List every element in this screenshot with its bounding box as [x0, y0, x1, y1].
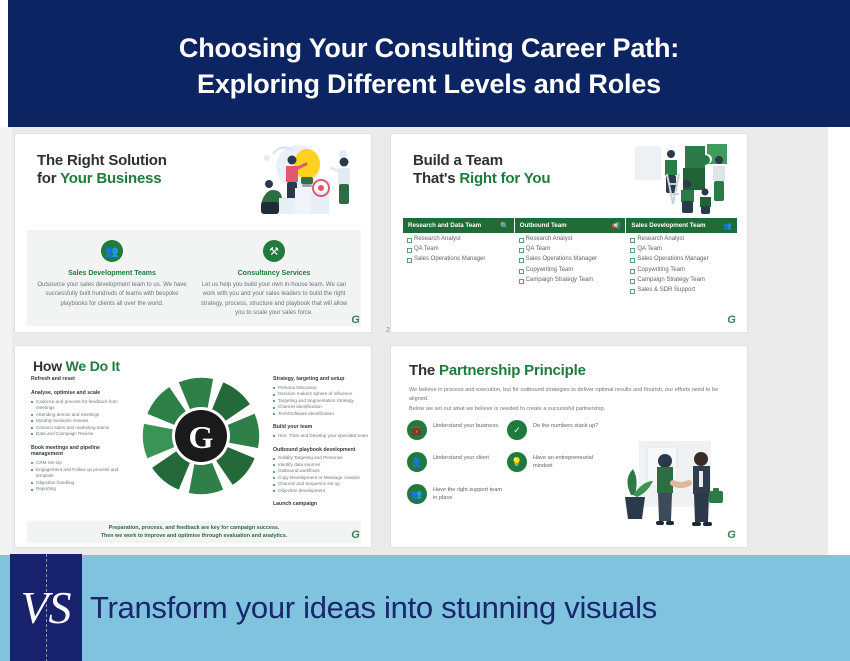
brand-logo-icon: G	[724, 314, 739, 327]
slide-4-heading-prefix: The	[409, 362, 439, 379]
team-role-item: Copywriting Team	[626, 264, 737, 274]
team-role-item: Sales Operations Manager	[626, 253, 737, 263]
slide-3-heading-accent: We Do It	[66, 358, 120, 374]
slide-1-heading-accent: Your Business	[60, 170, 161, 187]
team-role-item: Research Analyst	[403, 233, 514, 243]
team-role-item: QA Team	[403, 243, 514, 253]
slide-deck: 2 The Right Solution for Your Business	[0, 127, 850, 555]
process-item: Engagement and Follow up process and tem…	[31, 467, 127, 480]
slide-3-caption-line-2: Then we work to improve and optimise thr…	[101, 532, 288, 540]
team-column-sales-development: Sales Development Team 👥 Research Analys…	[626, 218, 737, 326]
team-column-outbound: Outbound Team 📢 Research Analyst QA Team…	[515, 218, 627, 326]
team-role-item: QA Team	[626, 243, 737, 253]
team-role-item: Campaign Strategy Team	[515, 274, 626, 284]
slide-1-heading-line-1: The Right Solution	[37, 152, 167, 170]
slide-2-heading: Build a Team That's Right for You	[413, 152, 550, 189]
vs-logo: VS	[10, 554, 82, 661]
footer-bar: VS Transform your ideas into stunning vi…	[0, 555, 850, 661]
process-group-title: Outbound playbook development	[273, 447, 369, 454]
process-item: Hire, Train and Develop your specialist …	[273, 433, 369, 440]
slide-1-col-1-body: Outsource your sales development team to…	[37, 281, 187, 309]
screenshot-root: Choosing Your Consulting Career Path: Ex…	[0, 0, 850, 661]
process-group: Analyse, optimise and scale Cadence and …	[31, 390, 127, 438]
principle-row: 👥 Have the right support team in place	[407, 484, 607, 504]
slide-4-paragraph-2: Below we set out what we believe is need…	[409, 405, 731, 414]
process-item: Reporting	[31, 486, 127, 493]
principle-item: ✓ Do the numbers stack up?	[507, 420, 607, 440]
team-role-item: Sales Operations Manager	[515, 253, 626, 263]
team-column-header-label: Sales Development Team	[631, 222, 705, 229]
slide-3-left-column: Refresh and reset Analyse, optimise and …	[31, 376, 127, 500]
team-puzzle-illustration	[627, 140, 739, 218]
brand-logo-icon: G	[724, 529, 739, 542]
slide-3-heading-prefix: How	[33, 358, 66, 374]
svg-text:G: G	[189, 419, 214, 455]
slide-3-caption: Preparation, process, and feedback are k…	[27, 521, 361, 543]
process-group: Strategy, targeting and setup Persona Di…	[273, 376, 369, 417]
process-group-title: Launch campaign	[273, 501, 369, 508]
team-icon: 👥	[723, 222, 732, 230]
principle-row: 💼 Understand your business ✓ Do the numb…	[407, 420, 607, 440]
slide-4-principle-list: 💼 Understand your business ✓ Do the numb…	[407, 420, 607, 516]
team-role-item: Research Analyst	[515, 233, 626, 243]
slide-partnership-principle[interactable]: The Partnership Principle We believe in …	[390, 345, 748, 548]
team-column-header: Research and Data Team 🔍	[403, 218, 514, 233]
slide-2-heading-accent: Right for You	[459, 170, 550, 187]
footer-tagline: Transform your ideas into stunning visua…	[90, 590, 657, 626]
team-column-research-and-data: Research and Data Team 🔍 Research Analys…	[403, 218, 515, 326]
brand-logo-icon: G	[348, 529, 363, 542]
team-role-item: Sales Operations Manager	[403, 253, 514, 263]
megaphone-icon: 📢	[612, 222, 621, 230]
slide-4-heading: The Partnership Principle	[409, 362, 586, 380]
principle-label: Understand your business	[433, 420, 498, 440]
principle-label: Understand your client	[433, 452, 489, 472]
process-group: Build your team Hire, Train and Develop …	[273, 424, 369, 439]
slide-1-col-2-title: Consultancy Services	[199, 270, 349, 277]
slide-build-a-team[interactable]: Build a Team That's Right for You	[390, 133, 748, 333]
team-column-header: Sales Development Team 👥	[626, 218, 737, 233]
title-line-1: Choosing Your Consulting Career Path:	[179, 31, 679, 67]
slide-how-we-do-it[interactable]: How We Do It Refresh and reset Analyse, …	[14, 345, 372, 548]
slide-1-column-sales-development: 👥 Sales Development Teams Outsource your…	[37, 240, 187, 309]
process-item: Objection development	[273, 488, 369, 495]
principle-item: 👥 Have the right support team in place	[407, 484, 507, 504]
slide-2-heading-line-1: Build a Team	[413, 152, 550, 170]
process-group-title: Book meetings and pipeline management	[31, 445, 127, 459]
briefcase-icon: 💼	[407, 420, 427, 440]
people-icon: 👥	[101, 240, 123, 262]
slide-1-heading-line-2: for Your Business	[37, 170, 167, 188]
process-group-title: Strategy, targeting and setup	[273, 376, 369, 383]
brand-logo-icon: G	[348, 314, 363, 327]
slide-2-heading-prefix: That's	[413, 170, 459, 187]
slide-1-column-consultancy: ⚒ Consultancy Services Let us help you b…	[199, 240, 349, 318]
deck-left-margin	[0, 127, 12, 555]
process-group-title: Analyse, optimise and scale	[31, 390, 127, 397]
process-group: Outbound playbook development Solidify T…	[273, 447, 369, 495]
support-icon: 👥	[407, 484, 427, 504]
slide-1-services-panel: 👥 Sales Development Teams Outsource your…	[27, 230, 361, 326]
slide-1-heading: The Right Solution for Your Business	[37, 152, 167, 189]
principle-label: Have an entrepreneurial mindset	[533, 452, 607, 472]
chart-up-icon: ✓	[507, 420, 527, 440]
slide-1-heading-prefix: for	[37, 170, 60, 187]
consultancy-icon: ⚒	[263, 240, 285, 262]
slide-4-paragraph-1: We believe in process and execution, but…	[409, 386, 731, 403]
team-column-header-label: Outbound Team	[520, 222, 567, 229]
team-role-item: Campaign Strategy Team	[626, 274, 737, 284]
team-role-item: Research Analyst	[626, 233, 737, 243]
team-role-item: Copywriting Team	[515, 264, 626, 274]
team-role-item: QA Team	[515, 243, 626, 253]
team-column-header: Outbound Team 📢	[515, 218, 626, 233]
slide-the-right-solution[interactable]: The Right Solution for Your Business	[14, 133, 372, 333]
team-column-header-label: Research and Data Team	[408, 222, 481, 229]
teamwork-lightbulb-illustration	[243, 142, 361, 222]
principle-item: 👤 Understand your client	[407, 452, 507, 472]
process-item: Tech/Software identification	[273, 411, 369, 418]
title-banner: Choosing Your Consulting Career Path: Ex…	[8, 0, 850, 127]
title-line-2: Exploring Different Levels and Roles	[197, 67, 661, 103]
principle-item: 💼 Understand your business	[407, 420, 507, 440]
magnifier-icon: 🔍	[500, 222, 509, 230]
process-group-title: Build your team	[273, 424, 369, 431]
deck-right-margin	[828, 127, 850, 555]
slide-3-body: Refresh and reset Analyse, optimise and …	[15, 376, 371, 519]
slide-4-heading-accent: Partnership Principle	[439, 362, 586, 379]
slide-3-right-column: Strategy, targeting and setup Persona Di…	[273, 376, 369, 515]
process-group: Book meetings and pipeline management CR…	[31, 445, 127, 493]
slide-2-team-table: Research and Data Team 🔍 Research Analys…	[403, 218, 737, 326]
principle-label: Do the numbers stack up?	[533, 420, 598, 440]
logo-seam-divider	[46, 554, 47, 661]
handshake-illustration	[617, 439, 735, 531]
principle-row: 👤 Understand your client 💡 Have an entre…	[407, 452, 607, 472]
principle-item: 💡 Have an entrepreneurial mindset	[507, 452, 607, 472]
slide-1-col-1-title: Sales Development Teams	[37, 270, 187, 277]
process-group: Refresh and reset	[31, 376, 127, 383]
process-item: Data and Campaign Review	[31, 431, 127, 438]
team-role-item: Sales & SDR Support	[626, 284, 737, 294]
process-group: Launch campaign	[273, 501, 369, 508]
slide-3-heading: How We Do It	[33, 358, 120, 375]
slide-1-col-2-body: Let us help you build your own in-house …	[199, 281, 349, 318]
slide-2-heading-line-2: That's Right for You	[413, 170, 550, 188]
client-icon: 👤	[407, 452, 427, 472]
slide-3-caption-line-1: Preparation, process, and feedback are k…	[109, 524, 280, 532]
process-item: Cadence and process for feedback from me…	[31, 399, 127, 412]
process-wheel-diagram: G	[137, 372, 265, 500]
process-group-title: Refresh and reset	[31, 376, 127, 383]
principle-label: Have the right support team in place	[433, 484, 507, 504]
lightbulb-icon: 💡	[507, 452, 527, 472]
